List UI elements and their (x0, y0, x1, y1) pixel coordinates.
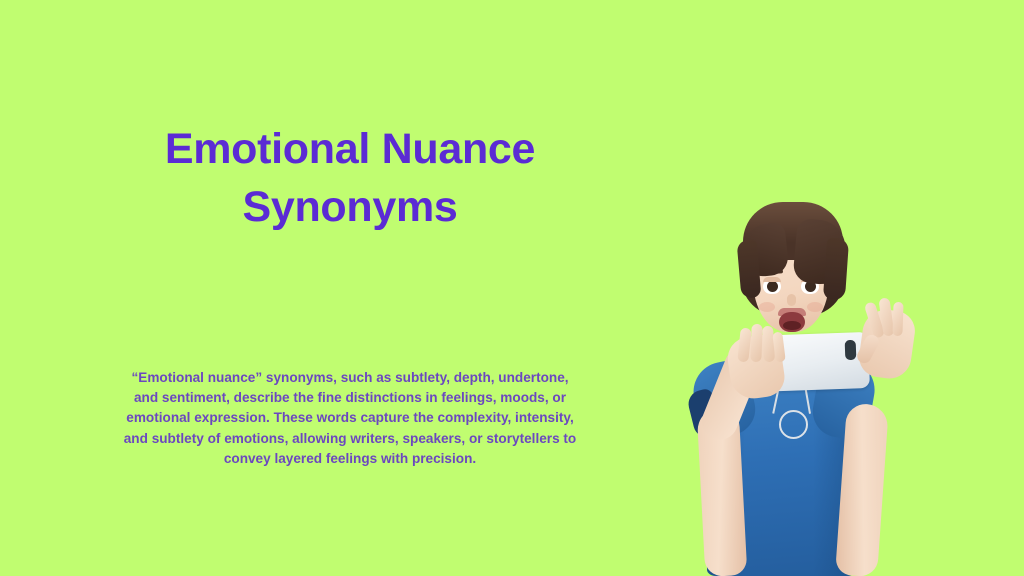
cheek-left (759, 302, 775, 312)
hair-side-right (823, 237, 849, 300)
page-title: Emotional Nuance Synonyms (120, 120, 580, 236)
mouth-inner (783, 321, 801, 330)
iris-left (767, 281, 778, 292)
woman-with-phone-photo (655, 178, 940, 576)
eyelid-left (763, 277, 781, 282)
text-block: Emotional Nuance Synonyms “Emotional nua… (120, 120, 580, 236)
nose (787, 294, 796, 306)
slide-canvas: Emotional Nuance Synonyms “Emotional nua… (0, 0, 1024, 576)
finger-left-2 (750, 324, 762, 362)
cheek-right (807, 302, 823, 312)
necklace-pendant-ring (779, 410, 808, 439)
phone-camera-icon (845, 340, 857, 360)
finger-right-3 (892, 302, 903, 336)
body-paragraph: “Emotional nuance” synonyms, such as sub… (120, 368, 580, 469)
